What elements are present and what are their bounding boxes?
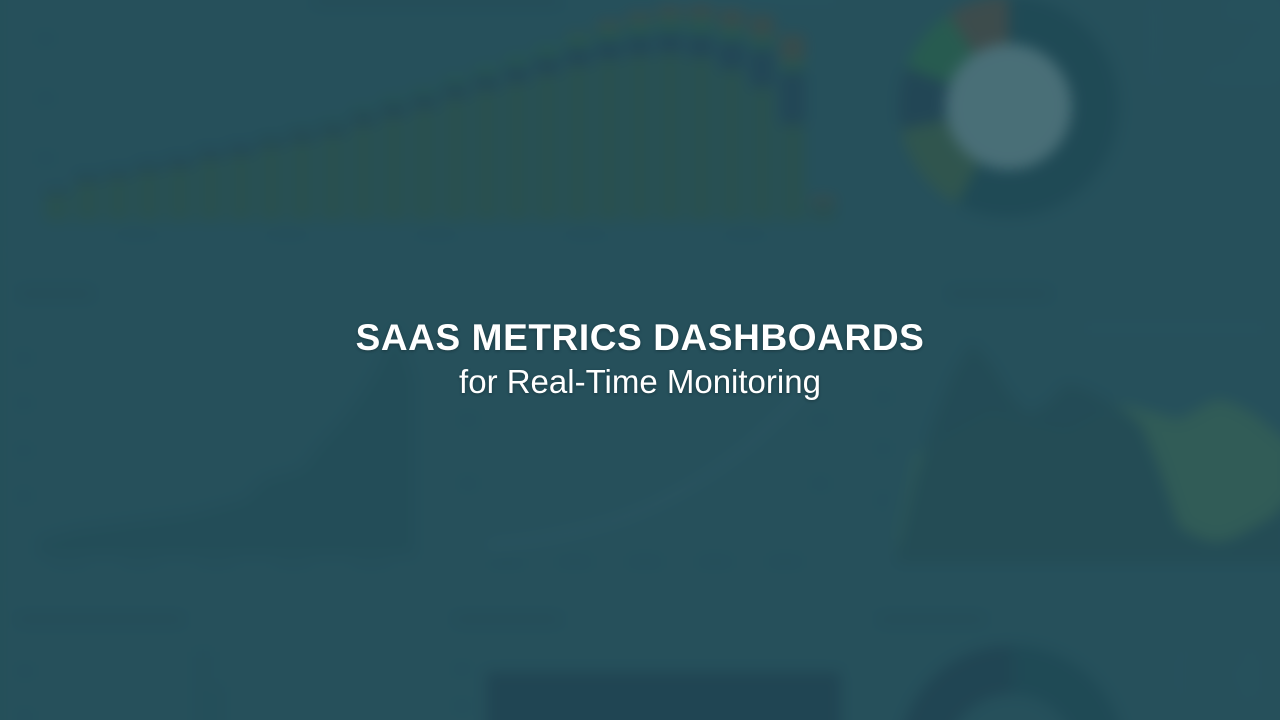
page-title: SAAS METRICS DASHBOARDS bbox=[356, 319, 925, 358]
page-subtitle: for Real-Time Monitoring bbox=[459, 363, 821, 401]
title-block: SAAS METRICS DASHBOARDS for Real-Time Mo… bbox=[0, 0, 1280, 720]
